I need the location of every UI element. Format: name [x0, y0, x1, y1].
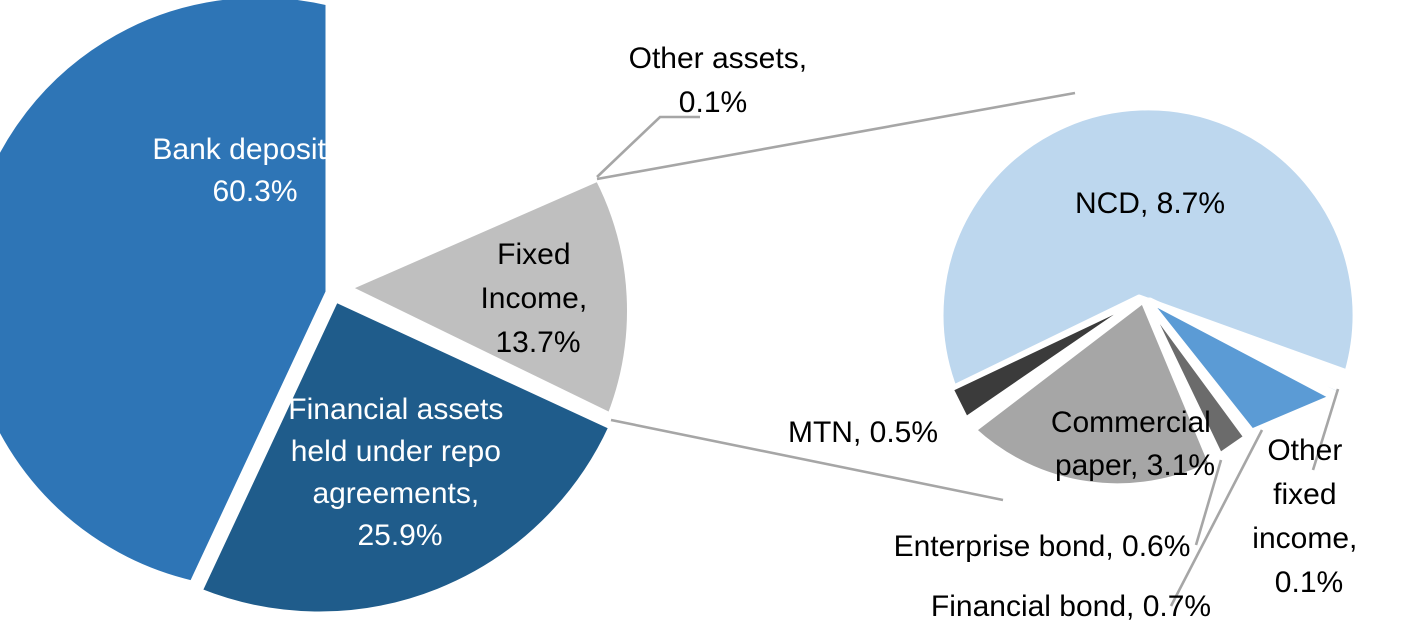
label-other-fixed-income: Other fixed income, 0.1% [1252, 434, 1365, 599]
chart-canvas: Bank deposits, 60.3% Financial assets he… [0, 0, 1404, 644]
label-other-assets: Other assets, 0.1% [629, 42, 816, 119]
label-fixed-income: Fixed Income, 13.7% [480, 238, 595, 359]
leader-other-assets [597, 117, 700, 177]
label-enterprise-bond: Enterprise bond, 0.6% [894, 530, 1191, 563]
label-financial-bond: Financial bond, 0.7% [931, 590, 1211, 623]
label-mtn: MTN, 0.5% [788, 416, 938, 449]
label-ncd: NCD, 8.7% [1075, 187, 1225, 220]
pie-of-pie-chart: Bank deposits, 60.3% Financial assets he… [0, 0, 1404, 644]
